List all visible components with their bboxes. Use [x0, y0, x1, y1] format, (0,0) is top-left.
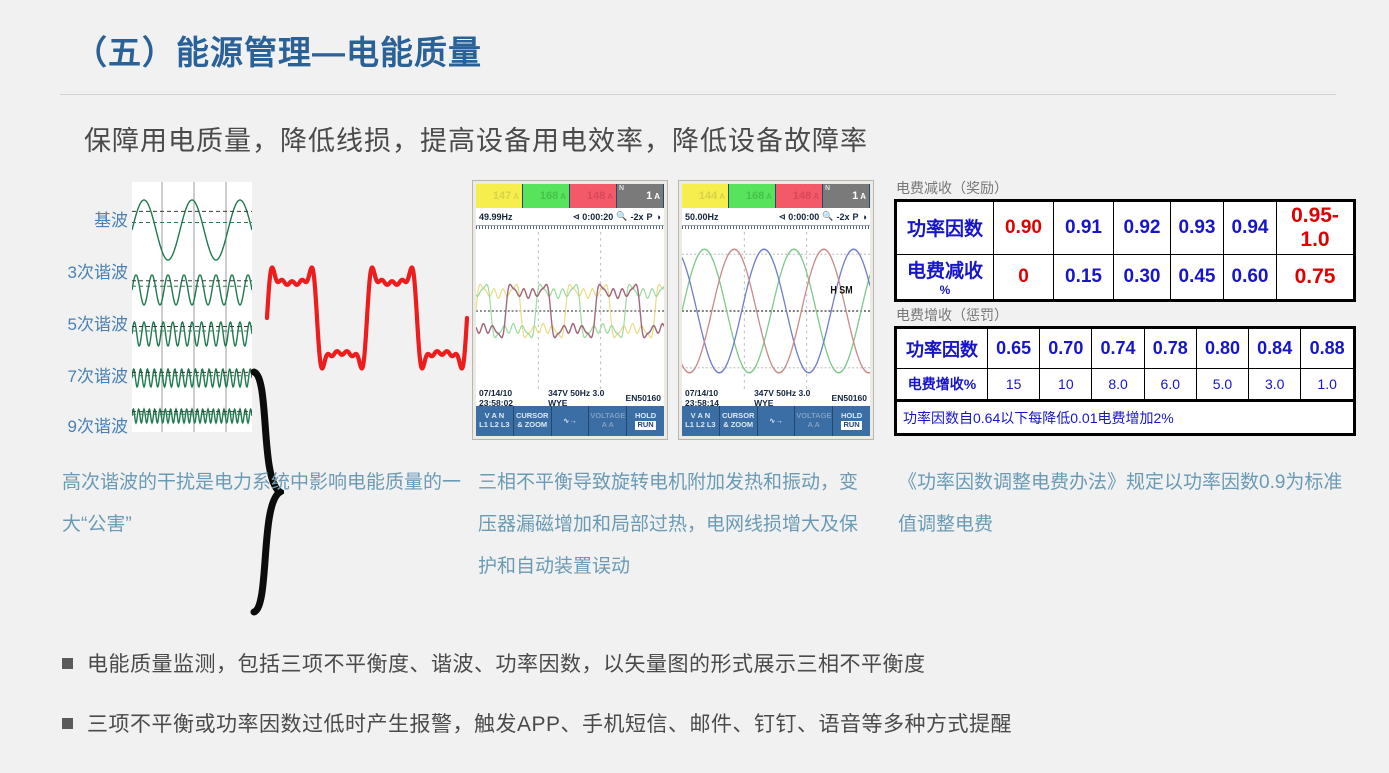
meter1-phase-n-unit: A [654, 192, 660, 201]
penalty-pf-1: 0.70 [1040, 328, 1092, 369]
harmonic-label-5th: 5次谐波 [68, 310, 128, 335]
penalty-note: 功率因数自0.64以下每降低0.01电费增加2% [896, 401, 1355, 435]
harmonic-waves-svg [132, 182, 252, 432]
power-analyzer-screenshot-harmonics: 147 A 168 A 148 A N 1 A [472, 180, 668, 440]
penalty-val-1: 10 [1040, 369, 1092, 401]
meter2-softkey-phase-l2: L1 L2 L3 [685, 421, 715, 430]
meter1-softkey-hold[interactable]: HOLD RUN [627, 406, 664, 436]
penalty-row1-header: 功率因数 [896, 328, 988, 369]
meter2-timestamp: 07/14/10 23:58:14 [685, 388, 754, 408]
meter2-phase-l3-unit: A [813, 192, 819, 201]
meter2-phase-n-value: 1 [852, 190, 858, 202]
penalty-row2-header: 电费增收% [896, 369, 988, 401]
penalty-val-6: 1.0 [1301, 369, 1355, 401]
meter2-phase-l1-unit: A [719, 192, 725, 201]
meter1-config: 347V 50Hz 3.0 WYE [548, 388, 625, 408]
meter2-phase-l2-value: 168 [746, 190, 764, 202]
meter2-plot-svg: H SM [682, 232, 870, 390]
meter1-phase-n: N 1 A [617, 184, 664, 208]
caption-unbalance: 三相不平衡导致旋转电机附加发热和振动，变压器漏磁增加和局部过热，电网线损增大及保… [478, 462, 858, 588]
reward-val-2: 0.30 [1114, 254, 1171, 300]
meter2-date-bar: 07/14/10 23:58:14 347V 50Hz 3.0 WYE EN50… [682, 390, 870, 406]
meter1-softkey-phase-l2: L1 L2 L3 [479, 421, 509, 430]
penalty-table-caption: 电费增收（惩罚） [896, 305, 1008, 325]
penalty-pf-3: 0.78 [1144, 328, 1196, 369]
harmonic-waveform-plot [132, 182, 252, 432]
meter2-frequency: 50.00Hz [685, 212, 719, 222]
meter2-config: 347V 50Hz 3.0 WYE [754, 388, 831, 408]
penalty-val-5: 3.0 [1249, 369, 1301, 401]
slide-root: （五）能源管理—电能质量 保障用电质量，降低线损，提高设备用电效率，降低设备故障… [0, 0, 1389, 773]
reward-val-0: 0 [994, 254, 1054, 300]
meter1-phase-l1: 147 A [476, 184, 523, 208]
reward-row2-header-text: 电费减收 [907, 261, 983, 282]
reward-pf-5: 0.95-1.0 [1277, 201, 1355, 255]
meter1-phase-l3: 148 A [570, 184, 617, 208]
reward-table-row-discount: 电费减收 % 0 0.15 0.30 0.45 0.60 0.75 [896, 254, 1355, 300]
penalty-val-2: 8.0 [1092, 369, 1144, 401]
caption-harmonics: 高次谐波的干扰是电力系统中影响电能质量的一大“公害” [62, 462, 462, 546]
harmonic-label-fundamental: 基波 [94, 206, 128, 231]
caption-regulation: 《功率因数调整电费办法》规定以功率因数0.9为标准值调整电费 [898, 462, 1358, 546]
meter2-timer: 0:00:00 [788, 212, 819, 222]
reward-pf-0: 0.90 [994, 201, 1054, 255]
meter1-phase-l2: 168 A [523, 184, 570, 208]
meter1-phase-l2-unit: A [560, 192, 566, 201]
meter1-zoom-level: -2x [631, 212, 644, 222]
meter1-standard: EN50160 [626, 393, 661, 403]
reward-row2-header: 电费减收 % [896, 254, 994, 300]
meter1-status-bar: 49.99Hz ⏿ 0:00:20 🔍 -2x P ◑ [476, 208, 664, 225]
meter1-phase-l1-unit: A [513, 192, 519, 201]
meter1-phase-n-sup: N [619, 185, 624, 192]
meter1-timer: 0:00:20 [582, 212, 613, 222]
reward-table-row-power-factor: 功率因数 0.90 0.91 0.92 0.93 0.94 0.95-1.0 [896, 201, 1355, 255]
harmonic-label-3rd: 3次谐波 [68, 258, 128, 283]
title-divider [60, 94, 1336, 95]
meter2-phase-l3: 148 A [776, 184, 823, 208]
penalty-pf-5: 0.84 [1249, 328, 1301, 369]
bullet-text-alarm: 三项不平衡或功率因数过低时产生报警，触发APP、手机短信、邮件、钉钉、语音等多种… [87, 708, 1012, 738]
meter2-softkey-wave-icon[interactable]: ∿→ [758, 406, 796, 436]
meter2-softkey-voltage-l2: A A [808, 421, 820, 430]
meter1-contrast-icon: ◑ [656, 212, 661, 222]
meter2-softkey-hold-l2: RUN [841, 421, 861, 430]
reward-pf-2: 0.92 [1114, 201, 1171, 255]
meter1-timestamp: 07/14/10 23:58:02 [479, 388, 548, 408]
meter2-scale-ruler [682, 225, 870, 232]
meter1-softkey-bar: V A N L1 L2 L3 CURSOR & ZOOM ∿→ VOLTAGE … [476, 406, 664, 436]
meter2-phase-l2: 168 A [729, 184, 776, 208]
power-factor-reward-table: 功率因数 0.90 0.91 0.92 0.93 0.94 0.95-1.0 电… [894, 199, 1356, 302]
meter1-plot-svg [476, 232, 664, 390]
meter1-magnifier-icon: 🔍 [616, 211, 627, 222]
meter2-mode: P [853, 212, 859, 222]
meter2-softkey-voltage[interactable]: VOLTAGE A A [795, 406, 833, 436]
meter1-phase-l3-unit: A [607, 192, 613, 201]
penalty-pf-4: 0.80 [1196, 328, 1248, 369]
reward-val-3: 0.45 [1171, 254, 1224, 300]
meter1-softkey-voltage-l2: A A [602, 421, 614, 430]
meter2-phase-l2-unit: A [766, 192, 772, 201]
meter2-softkey-cursor[interactable]: CURSOR & ZOOM [720, 406, 758, 436]
power-analyzer-screenshot-waveform: 144 A 168 A 148 A N 1 A [678, 180, 874, 440]
meter1-phase-l3-value: 148 [587, 190, 605, 202]
meter1-softkey-cursor-l2: & ZOOM [517, 421, 547, 430]
penalty-pf-2: 0.74 [1092, 328, 1144, 369]
meter1-phase-l2-value: 168 [540, 190, 558, 202]
meter1-date-bar: 07/14/10 23:58:02 347V 50Hz 3.0 WYE EN50… [476, 390, 664, 406]
meter1-softkey-phase[interactable]: V A N L1 L2 L3 [476, 406, 514, 436]
meter2-softkey-bar: V A N L1 L2 L3 CURSOR & ZOOM ∿→ VOLTAGE … [682, 406, 870, 436]
meter1-softkey-hold-l2: RUN [635, 421, 655, 430]
penalty-table-row-note: 功率因数自0.64以下每降低0.01电费增加2% [896, 401, 1355, 435]
reward-val-1: 0.15 [1054, 254, 1114, 300]
reward-val-4: 0.60 [1224, 254, 1277, 300]
bullet-item-monitoring: 电能质量监测，包括三项不平衡度、谐波、功率因数，以矢量图的形式展示三相不平衡度 [62, 648, 926, 678]
meter2-phase-n-unit: A [860, 192, 866, 201]
penalty-pf-6: 0.88 [1301, 328, 1355, 369]
penalty-pf-0: 0.65 [988, 328, 1040, 369]
penalty-val-3: 6.0 [1144, 369, 1196, 401]
meter1-softkey-voltage[interactable]: VOLTAGE A A [589, 406, 627, 436]
composite-distorted-waveform [262, 200, 472, 430]
reward-row1-header: 功率因数 [896, 201, 994, 255]
power-factor-penalty-table: 功率因数 0.65 0.70 0.74 0.78 0.80 0.84 0.88 … [894, 326, 1356, 436]
meter1-phase-bar: 147 A 168 A 148 A N 1 A [476, 184, 664, 208]
harmonic-decomposition-panel: 基波 3次谐波 5次谐波 7次谐波 9次谐波 [32, 180, 272, 432]
meter2-battery-icon: ⏿ [779, 211, 785, 222]
meter2-standard: EN50160 [832, 393, 867, 403]
penalty-val-4: 5.0 [1196, 369, 1248, 401]
meter1-phase-l1-value: 147 [493, 190, 511, 202]
meter1-battery-icon: ⏿ [573, 211, 579, 222]
meter1-mode: P [647, 212, 653, 222]
harmonic-label-list: 基波 3次谐波 5次谐波 7次谐波 9次谐波 [32, 180, 128, 432]
reward-table-caption: 电费减收（奖励） [896, 178, 1008, 198]
meter2-phase-l1-value: 144 [699, 190, 717, 202]
meter2-phase-n-sup: N [825, 185, 830, 192]
meter1-phase-n-value: 1 [646, 190, 652, 202]
meter2-phase-l1: 144 A [682, 184, 729, 208]
penalty-row2-header-text: 电费增收 [908, 376, 964, 392]
penalty-val-0: 15 [988, 369, 1040, 401]
page-title: （五）能源管理—电能质量 [74, 26, 482, 74]
meter2-softkey-cursor-l2: & ZOOM [723, 421, 753, 430]
meter2-phase-n: N 1 A [823, 184, 870, 208]
penalty-table-row-surcharge: 电费增收% 15 10 8.0 6.0 5.0 3.0 1.0 [896, 369, 1355, 401]
meter1-softkey-cursor[interactable]: CURSOR & ZOOM [514, 406, 552, 436]
meter2-waveform-plot: H SM [682, 232, 870, 390]
penalty-table-row-power-factor: 功率因数 0.65 0.70 0.74 0.78 0.80 0.84 0.88 [896, 328, 1355, 369]
meter2-plot-marker: H SM [830, 285, 852, 297]
meter1-scale-ruler [476, 225, 664, 232]
reward-val-5: 0.75 [1277, 254, 1355, 300]
meter2-magnifier-icon: 🔍 [822, 211, 833, 222]
reward-pf-4: 0.94 [1224, 201, 1277, 255]
bullet-item-alarm: 三项不平衡或功率因数过低时产生报警，触发APP、手机短信、邮件、钉钉、语音等多种… [62, 708, 1012, 738]
meter2-softkey-phase[interactable]: V A N L1 L2 L3 [682, 406, 720, 436]
bullet-square-icon [62, 658, 73, 669]
meter2-contrast-icon: ◑ [862, 212, 867, 222]
bullet-square-icon [62, 718, 73, 729]
reward-pf-3: 0.93 [1171, 201, 1224, 255]
harmonic-label-9th: 9次谐波 [68, 412, 128, 437]
subtitle: 保障用电质量，降低线损，提高设备用电效率，降低设备故障率 [84, 119, 868, 158]
meter1-softkey-wave-icon[interactable]: ∿→ [552, 406, 590, 436]
reward-pf-1: 0.91 [1054, 201, 1114, 255]
harmonic-label-7th: 7次谐波 [68, 362, 128, 387]
meter1-frequency: 49.99Hz [479, 212, 513, 222]
bullet-text-monitoring: 电能质量监测，包括三项不平衡度、谐波、功率因数，以矢量图的形式展示三相不平衡度 [87, 648, 926, 678]
penalty-row2-header-unit: % [964, 376, 976, 392]
meter1-waveform-plot [476, 232, 664, 390]
meter2-softkey-hold[interactable]: HOLD RUN [833, 406, 870, 436]
reward-row2-header-unit: % [898, 283, 992, 297]
meter2-phase-l3-value: 148 [793, 190, 811, 202]
meter2-phase-bar: 144 A 168 A 148 A N 1 A [682, 184, 870, 208]
meter2-zoom-level: -2x [837, 212, 850, 222]
meter2-status-bar: 50.00Hz ⏿ 0:00:00 🔍 -2x P ◑ [682, 208, 870, 225]
